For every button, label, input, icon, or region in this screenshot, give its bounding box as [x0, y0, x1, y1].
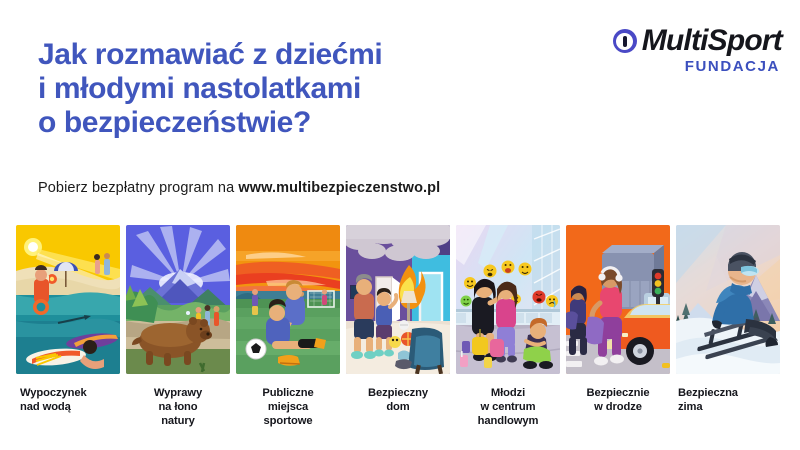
- illustration-winter-sled: [676, 225, 780, 374]
- card-label-7-line-2: zima: [678, 400, 780, 414]
- illustration-mountain-bear: [126, 225, 230, 374]
- card-label-5-line-2: w centrum: [456, 400, 560, 414]
- poster-root: Jak rozmawiać z dziećmi i młodymi nastol…: [0, 0, 800, 450]
- card-label-3-line-1: Publiczne: [236, 386, 340, 400]
- logo-wordmark: MultiSport: [642, 26, 782, 56]
- card-label-6: Bezpiecznie w drodze: [566, 386, 670, 414]
- illustration-home-fire: [346, 225, 450, 374]
- download-instruction-prefix: Pobierz bezpłatny program na: [38, 180, 238, 196]
- card-label-7: Bezpieczna zima: [676, 386, 780, 414]
- logo-subtitle: FUNDACJA: [570, 59, 782, 75]
- card-label-4-line-1: Bezpieczny: [346, 386, 450, 400]
- illustration-beach-water: [16, 225, 120, 374]
- card-label-4: Bezpieczny dom: [346, 386, 450, 414]
- download-instruction: Pobierz bezpłatny program na www.multibe…: [38, 180, 440, 196]
- logo-top-row: MultiSport: [570, 26, 782, 56]
- topic-card-wypoczynek-nad-woda[interactable]: Wypoczynek nad wodą: [16, 225, 120, 428]
- topic-card-bezpieczna-zima[interactable]: Bezpieczna zima: [676, 225, 780, 428]
- topic-card-bezpiecznie-w-drodze[interactable]: Bezpiecznie w drodze: [566, 225, 670, 428]
- topic-card-strip: Wypoczynek nad wodą: [16, 225, 784, 428]
- illustration-mall-teens: [456, 225, 560, 374]
- headline-line-1: Jak rozmawiać z dziećmi: [38, 38, 578, 72]
- multisport-fundacja-logo: MultiSport FUNDACJA: [570, 26, 782, 75]
- headline-line-2: i młodymi nastolatkami: [38, 72, 578, 106]
- topic-card-mlodzi-w-centrum-handlowym[interactable]: Młodzi w centrum handlowym: [456, 225, 560, 428]
- card-label-4-line-2: dom: [346, 400, 450, 414]
- card-label-1-line-1: Wypoczynek: [20, 386, 120, 400]
- topic-card-wyprawy-na-lono-natury[interactable]: Wyprawy na łono natury: [126, 225, 230, 428]
- headline-line-3: o bezpieczeństwie?: [38, 106, 578, 140]
- card-label-2-line-2: na łono: [126, 400, 230, 414]
- card-label-6-line-1: Bezpiecznie: [566, 386, 670, 400]
- card-label-2-line-1: Wyprawy: [126, 386, 230, 400]
- card-label-1: Wypoczynek nad wodą: [16, 386, 120, 414]
- program-website-url[interactable]: www.multibezpieczenstwo.pl: [238, 180, 440, 196]
- card-label-3-line-3: sportowe: [236, 414, 340, 428]
- card-label-7-line-1: Bezpieczna: [678, 386, 780, 400]
- topic-card-publiczne-miejsca-sportowe[interactable]: Publiczne miejsca sportowe: [236, 225, 340, 428]
- card-label-1-line-2: nad wodą: [20, 400, 120, 414]
- illustration-sports-field: [236, 225, 340, 374]
- card-label-5: Młodzi w centrum handlowym: [456, 386, 560, 428]
- card-label-2-line-3: natury: [126, 414, 230, 428]
- card-label-3-line-2: miejsca: [236, 400, 340, 414]
- topic-card-bezpieczny-dom[interactable]: Bezpieczny dom: [346, 225, 450, 428]
- card-label-5-line-1: Młodzi: [456, 386, 560, 400]
- card-label-6-line-2: w drodze: [566, 400, 670, 414]
- page-title: Jak rozmawiać z dziećmi i młodymi nastol…: [38, 38, 578, 140]
- card-label-2: Wyprawy na łono natury: [126, 386, 230, 428]
- card-label-3: Publiczne miejsca sportowe: [236, 386, 340, 428]
- illustration-street-crossing: [566, 225, 670, 374]
- card-label-5-line-3: handlowym: [456, 414, 560, 428]
- multisport-circle-mark-icon: [613, 29, 637, 53]
